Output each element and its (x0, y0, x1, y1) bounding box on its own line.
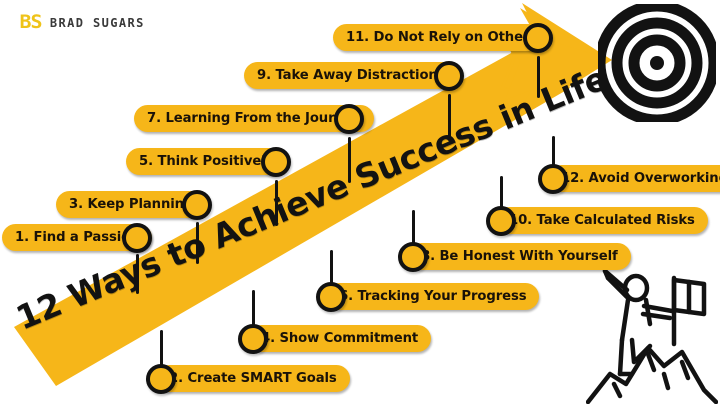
logo-wordmark: BRAD SUGARS (50, 17, 145, 29)
pin-stem (252, 290, 255, 328)
brand-logo[interactable]: BS BRAD SUGARS (20, 13, 145, 32)
pin-stem (196, 222, 199, 264)
pin-label[interactable]: 10. Take Calculated Risks (496, 207, 708, 234)
pin-label[interactable]: 2. Create SMART Goals (156, 365, 350, 392)
pin-stem (500, 176, 503, 210)
pin-stem (275, 180, 278, 226)
infographic-canvas: 12 Ways to Achieve Success in Life (0, 0, 720, 404)
pin-stem (160, 330, 163, 368)
pin-stem (136, 254, 139, 294)
pin-ring-icon (122, 223, 152, 253)
pin-ring-icon (334, 104, 364, 134)
pin-ring-icon (523, 23, 553, 53)
pin-ring-icon (434, 61, 464, 91)
pin-ring-icon (538, 164, 568, 194)
pin-ring-icon (146, 364, 176, 394)
pin-label[interactable]: 11. Do Not Rely on Others (333, 24, 550, 51)
pin-label[interactable]: 4. Show Commitment (248, 325, 431, 352)
logo-monogram: BS (19, 13, 41, 32)
pin-label[interactable]: 6. Tracking Your Progress (326, 283, 539, 310)
pin-ring-icon (182, 190, 212, 220)
pin-ring-icon (316, 282, 346, 312)
mountain-climber-flag-icon (586, 262, 718, 404)
bullseye-target-icon (598, 4, 716, 122)
pin-label[interactable]: 8. Be Honest With Yourself (408, 243, 631, 270)
pin-stem (412, 210, 415, 246)
pin-stem (537, 56, 540, 98)
pin-ring-icon (486, 206, 516, 236)
pin-stem (448, 94, 451, 140)
pin-ring-icon (261, 147, 291, 177)
pin-ring-icon (398, 242, 428, 272)
pin-label[interactable]: 9. Take Away Distractions (244, 62, 458, 89)
pin-stem (330, 250, 333, 286)
pin-label[interactable]: 12. Avoid Overworking (548, 165, 720, 192)
pin-stem (348, 137, 351, 183)
pin-ring-icon (238, 324, 268, 354)
